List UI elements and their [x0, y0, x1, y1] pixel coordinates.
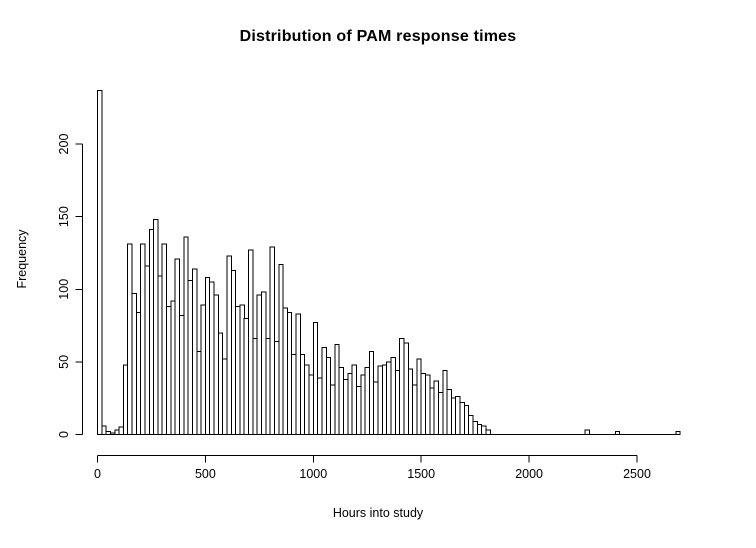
histogram-bar [119, 427, 123, 434]
histogram-bar [352, 365, 356, 435]
histogram-bar [223, 359, 227, 435]
histogram-bar [413, 385, 417, 434]
histogram-bar [154, 220, 158, 435]
histogram-bar [313, 323, 317, 435]
histogram-bar [473, 421, 477, 434]
histogram-bar [102, 426, 106, 435]
y-axis-label: Frequency [15, 199, 29, 319]
histogram-bar [344, 379, 348, 434]
x-tick-label: 500 [195, 467, 216, 481]
histogram-bar [309, 375, 313, 435]
x-tick-label: 0 [94, 467, 101, 481]
histogram-bar [218, 333, 222, 435]
histogram-bar [136, 312, 140, 434]
x-tick-label: 1500 [407, 467, 435, 481]
histogram-bar [408, 369, 412, 434]
histogram-bar [158, 276, 162, 434]
histogram-bar [175, 259, 179, 435]
histogram-bar [447, 389, 451, 434]
histogram-bar [171, 301, 175, 435]
histogram-bar [227, 256, 231, 435]
histogram-bar [400, 339, 404, 435]
histogram-bar [240, 305, 244, 434]
histogram-bar [318, 378, 322, 435]
histogram-bar [460, 403, 464, 435]
histogram-bar [434, 381, 438, 435]
histogram-bar [188, 281, 192, 435]
histogram-bar [270, 247, 274, 434]
histogram-bar [426, 375, 430, 435]
histogram-bar [395, 371, 399, 435]
x-tick-label: 2000 [515, 467, 543, 481]
histogram-bar [404, 343, 408, 435]
histogram-bar [192, 269, 196, 435]
y-axis-tick-labels: 050100150200 [57, 134, 71, 438]
histogram-bar [283, 308, 287, 434]
histogram-bar [469, 416, 473, 435]
histogram-bar [339, 368, 343, 435]
histogram-bar [167, 307, 171, 435]
histogram-bar [305, 365, 309, 435]
histogram-bar [335, 344, 339, 434]
histogram-bar [382, 365, 386, 435]
histogram-bar [98, 90, 102, 434]
histogram-bar [210, 282, 214, 435]
histogram-bar [262, 292, 266, 434]
histogram-bar [322, 347, 326, 434]
histogram-bar [236, 307, 240, 435]
histogram-bar [128, 244, 132, 434]
histogram-bar [482, 426, 486, 435]
histogram-bar [387, 362, 391, 435]
histogram-bar [145, 266, 149, 434]
histogram-bar [430, 388, 434, 434]
histogram-bar [438, 392, 442, 434]
histogram-bar [365, 368, 369, 435]
histogram-bar [244, 318, 248, 434]
histogram-bar [292, 355, 296, 435]
y-tick-label: 50 [57, 355, 71, 369]
histogram-bar [279, 265, 283, 435]
histogram-bar [326, 358, 330, 435]
histogram-bar [585, 430, 589, 434]
histogram-bars [98, 90, 681, 434]
histogram-bar [115, 430, 119, 434]
histogram-bar [331, 385, 335, 434]
x-axis-label: Hours into study [0, 506, 756, 520]
chart-plot-area: Distribution of PAM response times 05001… [0, 0, 756, 548]
histogram-bar [477, 424, 481, 434]
histogram-bar [162, 244, 166, 434]
histogram-svg: 05001000150020002500 050100150200 [0, 0, 756, 548]
histogram-bar [417, 359, 421, 435]
histogram-bar [205, 278, 209, 435]
histogram-bar [253, 339, 257, 435]
histogram-bar [141, 244, 145, 434]
histogram-bar [456, 397, 460, 435]
histogram-bar [266, 339, 270, 435]
histogram-bar [300, 355, 304, 435]
histogram-bar [486, 430, 490, 434]
histogram-bar [214, 295, 218, 434]
y-tick-label: 100 [57, 279, 71, 300]
histogram-bar [184, 237, 188, 435]
histogram-bar [369, 352, 373, 435]
histogram-bar [123, 365, 127, 435]
histogram-bar [451, 398, 455, 434]
histogram-bar [132, 294, 136, 435]
x-tick-label: 2500 [623, 467, 651, 481]
y-tick-label: 0 [57, 431, 71, 438]
histogram-bar [296, 314, 300, 435]
histogram-bar [374, 382, 378, 434]
y-tick-label: 150 [57, 206, 71, 227]
histogram-bar [348, 374, 352, 435]
histogram-bar [391, 358, 395, 435]
x-axis-tick-labels: 05001000150020002500 [94, 467, 651, 481]
histogram-bar [249, 250, 253, 434]
histogram-bar [274, 342, 278, 435]
histogram-bar [421, 374, 425, 435]
histogram-bar [180, 315, 184, 434]
histogram-bar [149, 230, 153, 435]
histogram-bar [361, 375, 365, 435]
histogram-bar [257, 295, 261, 434]
histogram-bar [356, 387, 360, 435]
histogram-bar [231, 270, 235, 434]
histogram-bar [464, 405, 468, 434]
histogram-bar [378, 366, 382, 434]
x-tick-label: 1000 [299, 467, 327, 481]
histogram-bar [197, 352, 201, 435]
histogram-bar [443, 371, 447, 435]
histogram-bar [287, 312, 291, 434]
histogram-bar [201, 305, 205, 434]
y-tick-label: 200 [57, 134, 71, 155]
